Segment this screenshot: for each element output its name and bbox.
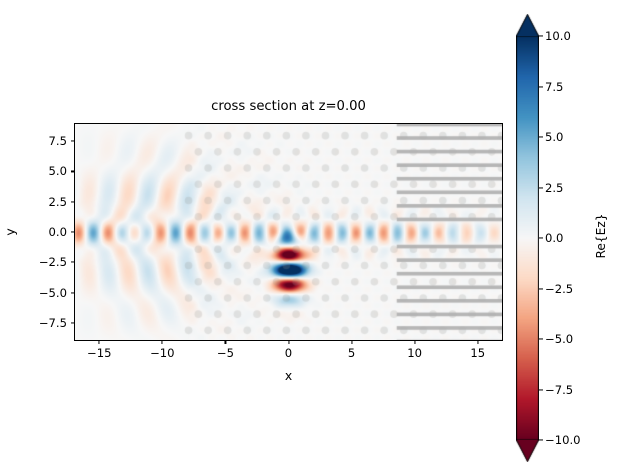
colorbar-tick-label: −5.0 <box>545 332 573 346</box>
y-tick-label: 0.0 <box>49 225 67 239</box>
y-tick-mark <box>71 292 74 293</box>
x-tick-label: 0 <box>285 346 292 360</box>
colorbar-tick-mark <box>539 237 543 238</box>
y-tick-label: −2.5 <box>39 255 67 269</box>
y-tick-mark <box>71 262 74 263</box>
x-tick-label: −15 <box>87 346 111 360</box>
y-tick-label: 2.5 <box>49 195 67 209</box>
x-tick-mark <box>162 341 163 344</box>
x-axis-label: x <box>74 368 503 383</box>
field-heatmap-axes <box>74 123 503 341</box>
x-tick-mark <box>225 341 226 344</box>
colorbar-gradient <box>516 36 539 440</box>
colorbar-tick-label: 5.0 <box>545 130 563 144</box>
colorbar-tick-mark <box>539 187 543 188</box>
x-tick-mark <box>414 341 415 344</box>
colorbar-tick-label: 2.5 <box>545 181 563 195</box>
x-tick-mark <box>288 341 289 344</box>
y-tick-mark <box>71 322 74 323</box>
colorbar-extend-min-arrow <box>516 440 539 462</box>
y-tick-label: −7.5 <box>39 316 67 330</box>
y-tick-mark <box>71 201 74 202</box>
x-tick-mark <box>351 341 352 344</box>
colorbar-label: Re{Ez} <box>594 213 608 258</box>
colorbar-tick-label: 7.5 <box>545 80 563 94</box>
y-tick-label: 7.5 <box>49 134 67 148</box>
colorbar-tick-mark <box>539 86 543 87</box>
y-tick-label: −5.0 <box>39 286 67 300</box>
x-tick-label: −10 <box>150 346 174 360</box>
y-tick-mark <box>71 171 74 172</box>
colorbar <box>516 14 539 462</box>
plot-title: cross section at z=0.00 <box>74 99 503 115</box>
colorbar-tick-label: 0.0 <box>545 231 563 245</box>
x-tick-label: 5 <box>348 346 355 360</box>
colorbar-tick-label: −2.5 <box>545 282 573 296</box>
colorbar-tick-mark <box>539 136 543 137</box>
y-tick-label: 5.0 <box>49 164 67 178</box>
colorbar-tick-mark <box>539 35 543 36</box>
colorbar-extend-max-arrow <box>516 14 539 36</box>
y-axis-label: y <box>3 228 18 235</box>
x-tick-mark <box>477 341 478 344</box>
x-tick-label: −5 <box>217 346 234 360</box>
figure-canvas: cross section at z=0.00 x y Re{Ez} 7.55.… <box>0 0 628 470</box>
y-tick-mark <box>71 141 74 142</box>
colorbar-tick-label: 10.0 <box>545 29 571 43</box>
x-tick-label: 15 <box>470 346 485 360</box>
colorbar-tick-mark <box>539 389 543 390</box>
colorbar-tick-label: −7.5 <box>545 383 573 397</box>
x-tick-label: 10 <box>407 346 422 360</box>
field-heatmap-image <box>75 124 503 341</box>
colorbar-tick-mark <box>539 439 543 440</box>
colorbar-tick-label: −10.0 <box>545 433 581 447</box>
colorbar-tick-mark <box>539 338 543 339</box>
y-tick-mark <box>71 231 74 232</box>
colorbar-tick-mark <box>539 288 543 289</box>
x-tick-mark <box>99 341 100 344</box>
